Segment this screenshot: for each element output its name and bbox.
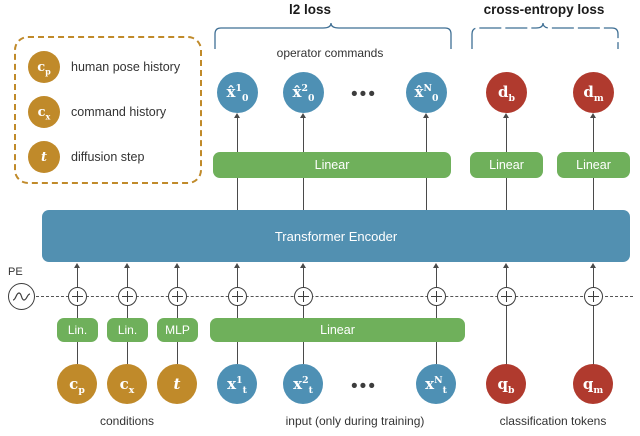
- output-token-xhat-2: x̂20: [283, 72, 324, 113]
- input-token-x-2: x2t: [283, 364, 323, 404]
- line-x1-embed: [237, 342, 238, 364]
- output-token-xhat-2-label: x̂20: [293, 85, 315, 100]
- arrow-line-sum-3: [177, 268, 178, 287]
- arrow-head-out-2: [300, 113, 306, 118]
- caption-conditions: conditions: [62, 414, 192, 428]
- l2-loss-label: l2 loss: [245, 2, 375, 17]
- arrow-head-sum-2: [124, 263, 130, 268]
- line-embed-sum-4: [237, 306, 238, 318]
- arrow-head-sum-6: [433, 263, 439, 268]
- legend-icon-cp-label: cp: [37, 61, 51, 74]
- output-token-xhat-N-label: x̂N0: [415, 85, 439, 100]
- arrow-head-sum-4: [234, 263, 240, 268]
- sum-node-1: [68, 287, 87, 306]
- arrow-head-out-db: [503, 113, 509, 118]
- input-token-x-N: xNt: [416, 364, 456, 404]
- legend-label-diffusion: diffusion step: [71, 150, 144, 164]
- sum-node-7: [497, 287, 516, 306]
- head-linear-dm[interactable]: Linear: [557, 152, 630, 178]
- line-x2-embed: [303, 342, 304, 364]
- sum-node-6: [427, 287, 446, 306]
- sum-node-4: [228, 287, 247, 306]
- legend-icon-t-label: t: [41, 151, 47, 164]
- embed-lin-command[interactable]: Lin.: [107, 318, 148, 342]
- arrow-head-sum-5: [300, 263, 306, 268]
- output-token-d-m-label: dm: [583, 85, 603, 100]
- input-token-cx-label: cx: [120, 377, 135, 392]
- arrow-line-sum-5: [303, 268, 304, 287]
- input-token-cx: cx: [107, 364, 147, 404]
- arrow-line-out-db: [506, 118, 507, 152]
- arrow-head-out-dm: [590, 113, 596, 118]
- arrow-head-sum-8: [590, 263, 596, 268]
- arrow-line-out-dm: [593, 118, 594, 152]
- legend-label-command: command history: [71, 105, 166, 119]
- figure-canvas: l2 loss cross-entropy loss operator comm…: [0, 0, 640, 436]
- cross-entropy-loss-brace: [470, 22, 620, 50]
- sum-node-3: [168, 287, 187, 306]
- operator-commands-label: operator commands: [255, 46, 405, 60]
- line-embed-sum-6: [436, 306, 437, 318]
- arrow-line-sum-4: [237, 268, 238, 287]
- transformer-encoder-block[interactable]: Transformer Encoder: [42, 210, 630, 262]
- caption-classification: classification tokens: [473, 414, 633, 428]
- input-token-x-2-label: x2t: [293, 377, 313, 392]
- legend-icon-cp: cp: [28, 51, 60, 83]
- caption-input: input (only during training): [265, 414, 445, 428]
- sine-wave-icon: [8, 283, 35, 310]
- output-token-d-m: dm: [573, 72, 614, 113]
- input-token-qb-label: qb: [497, 377, 514, 392]
- line-cx-embed: [127, 342, 128, 364]
- arrow-line-sum-7: [506, 268, 507, 287]
- arrow-head-out-1: [234, 113, 240, 118]
- arrow-head-out-N: [423, 113, 429, 118]
- arrow-line-out-N: [426, 118, 427, 152]
- sum-node-8: [584, 287, 603, 306]
- transformer-encoder-label: Transformer Encoder: [275, 229, 397, 244]
- arrow-head-sum-3: [174, 263, 180, 268]
- input-token-qb: qb: [486, 364, 526, 404]
- arrow-head-sum-7: [503, 263, 509, 268]
- input-token-qm: qm: [573, 364, 613, 404]
- cross-entropy-loss-label: cross-entropy loss: [468, 2, 620, 17]
- line-enc-head-dm: [593, 178, 594, 210]
- pe-label: PE: [8, 266, 23, 278]
- output-token-xhat-N: x̂N0: [406, 72, 447, 113]
- line-embed-sum-5: [303, 306, 304, 318]
- head-linear-commands[interactable]: Linear: [213, 152, 451, 178]
- arrow-line-out-2: [303, 118, 304, 152]
- line-embed-sum-2: [127, 306, 128, 318]
- line-cp-embed: [77, 342, 78, 364]
- embed-lin-pose[interactable]: Lin.: [57, 318, 98, 342]
- line-xN-embed: [436, 342, 437, 364]
- head-linear-db[interactable]: Linear: [470, 152, 543, 178]
- legend-icon-cx: cx: [28, 96, 60, 128]
- legend-box: cp human pose history cx command history…: [14, 36, 202, 184]
- line-qm-sum: [593, 306, 594, 366]
- sum-node-5: [294, 287, 313, 306]
- output-token-xhat-1-label: x̂10: [227, 85, 249, 100]
- output-token-xhat-1: x̂10: [217, 72, 258, 113]
- arrow-line-sum-2: [127, 268, 128, 287]
- output-token-d-b: db: [486, 72, 527, 113]
- embed-mlp-timestep[interactable]: MLP: [157, 318, 198, 342]
- line-enc-head-2: [303, 178, 304, 210]
- line-enc-head-N: [426, 178, 427, 210]
- input-token-cp-label: cp: [69, 377, 85, 392]
- sum-node-2: [118, 287, 137, 306]
- input-ellipsis: •••: [344, 376, 384, 398]
- arrow-line-out-1: [237, 118, 238, 152]
- arrow-line-sum-6: [436, 268, 437, 287]
- legend-label-pose: human pose history: [71, 60, 180, 74]
- input-token-qm-label: qm: [583, 377, 603, 392]
- line-t-embed: [177, 342, 178, 364]
- line-enc-head-db: [506, 178, 507, 210]
- input-token-cp: cp: [57, 364, 97, 404]
- output-ellipsis: •••: [344, 84, 384, 106]
- line-qb-sum: [506, 306, 507, 366]
- line-enc-head-1: [237, 178, 238, 210]
- output-token-d-b-label: db: [498, 85, 515, 100]
- arrow-head-sum-1: [74, 263, 80, 268]
- line-embed-sum-3: [177, 306, 178, 318]
- arrow-line-sum-8: [593, 268, 594, 287]
- input-token-x-1: x1t: [217, 364, 257, 404]
- legend-icon-t: t: [28, 141, 60, 173]
- input-token-t-label: t: [174, 377, 181, 392]
- legend-icon-cx-label: cx: [38, 106, 51, 119]
- input-token-x-1-label: x1t: [227, 377, 247, 392]
- input-token-t: t: [157, 364, 197, 404]
- embed-linear-inputs[interactable]: Linear: [210, 318, 465, 342]
- line-embed-sum-1: [77, 306, 78, 318]
- arrow-line-sum-1: [77, 268, 78, 287]
- input-token-x-N-label: xNt: [425, 377, 447, 392]
